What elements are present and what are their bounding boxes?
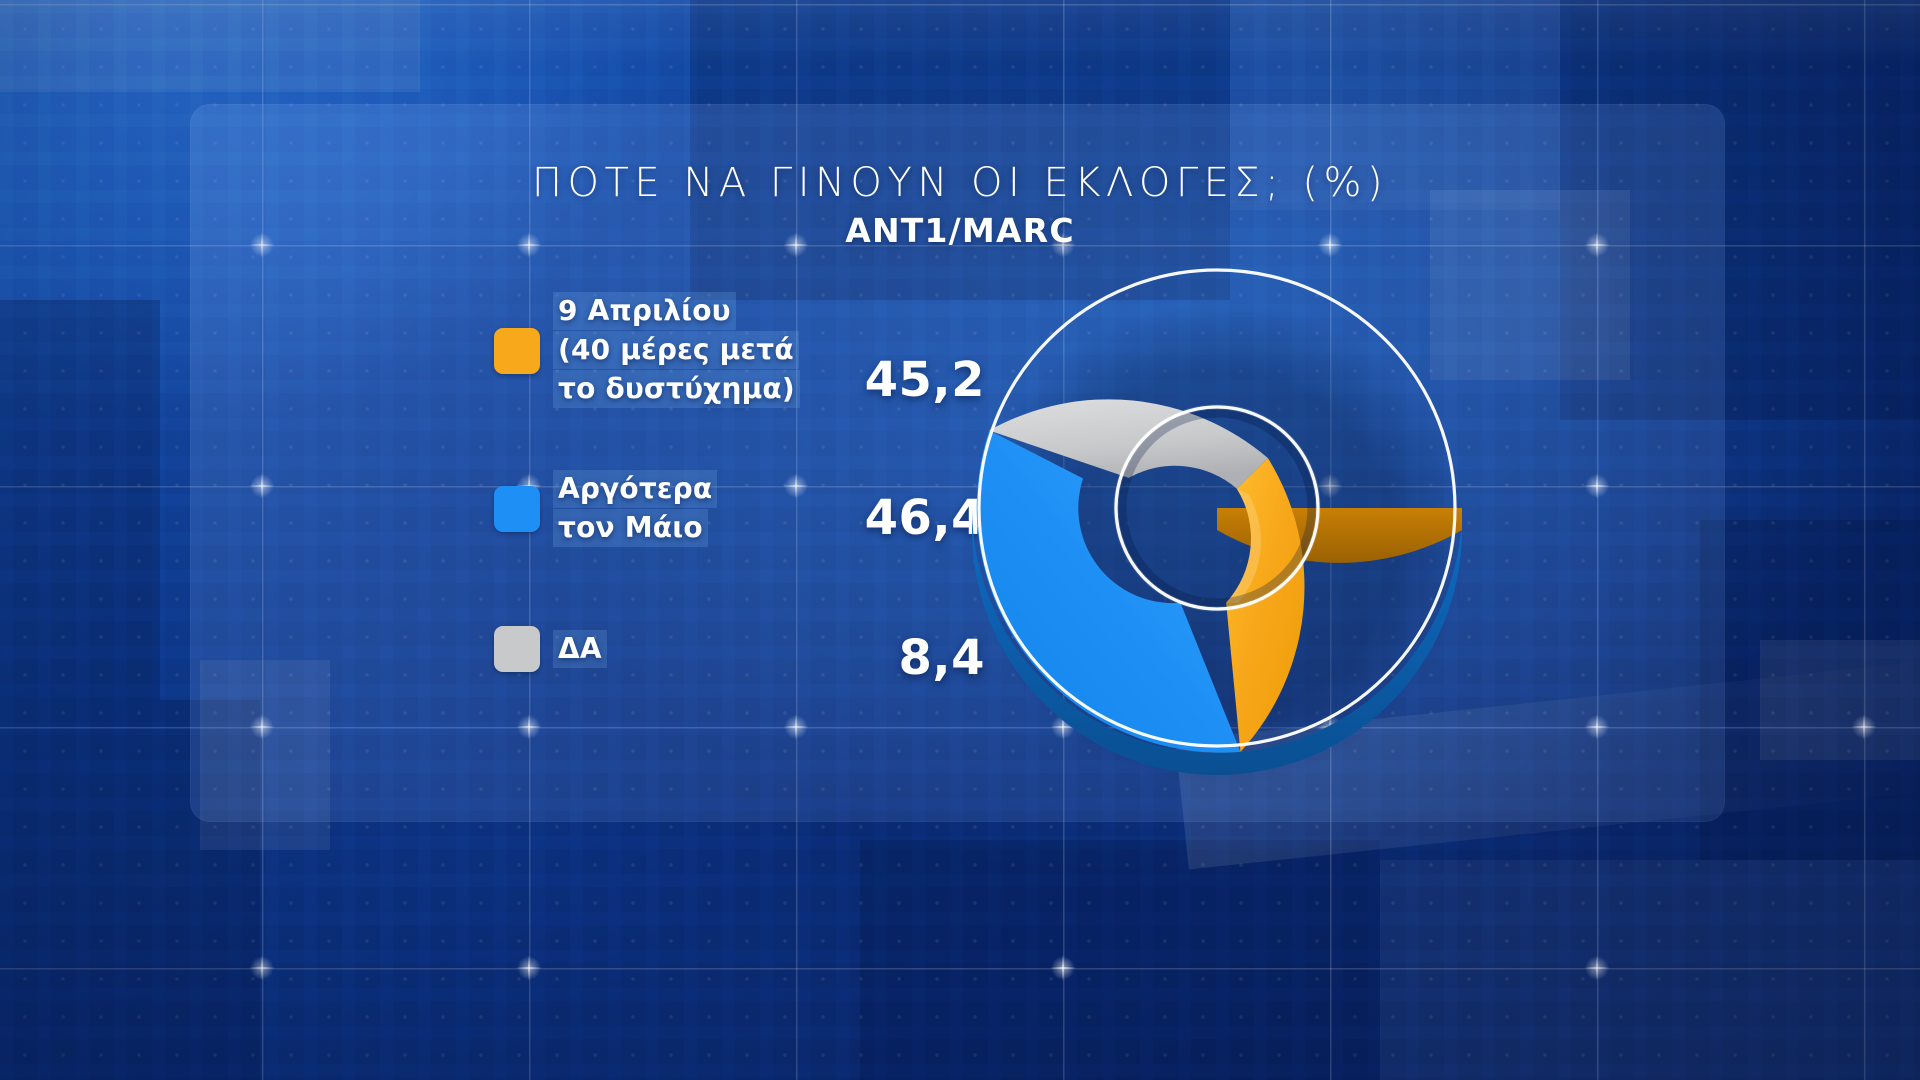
legend-label-da: ΔΑ bbox=[556, 630, 607, 669]
broadcast-graphic-screen: ΠΟΤΕ ΝΑ ΓΙΝΟΥΝ ΟΙ ΕΚΛΟΓΕΣ; (%) ΑΝΤ1/MARC… bbox=[0, 0, 1920, 1080]
legend-swatch-blue bbox=[494, 486, 540, 532]
legend-swatch-orange bbox=[494, 328, 540, 374]
legend-label-9-apriliou: 9 Απριλίου (40 μέρες μετά το δυστύχημα) bbox=[556, 292, 800, 409]
page-title: ΠΟΤΕ ΝΑ ΓΙΝΟΥΝ ΟΙ ΕΚΛΟΓΕΣ; (%) bbox=[0, 160, 1920, 206]
donut-chart bbox=[952, 243, 1512, 793]
legend-label-line: το δυστύχημα) bbox=[553, 370, 800, 408]
legend-label-line: (40 μέρες μετά bbox=[553, 331, 799, 369]
legend-item-argotera-ton-maio[interactable]: Αργότερα τον Μάιο bbox=[494, 470, 717, 548]
legend-item-da[interactable]: ΔΑ bbox=[494, 626, 607, 672]
legend-label-line: ΔΑ bbox=[553, 630, 607, 668]
legend-label-line: 9 Απριλίου bbox=[553, 292, 736, 330]
donut-chart-svg bbox=[952, 243, 1512, 793]
legend-label-argotera-ton-maio: Αργότερα τον Μάιο bbox=[556, 470, 717, 548]
legend-label-line: τον Μάιο bbox=[553, 509, 708, 547]
legend-item-9-apriliou[interactable]: 9 Απριλίου (40 μέρες μετά το δυστύχημα) bbox=[494, 292, 800, 409]
legend-swatch-gray bbox=[494, 626, 540, 672]
legend-label-line: Αργότερα bbox=[553, 470, 717, 508]
